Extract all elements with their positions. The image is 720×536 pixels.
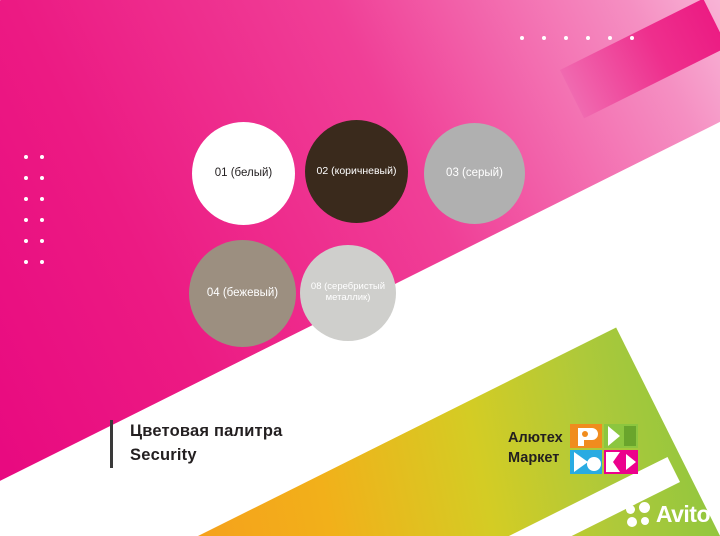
decorative-dot	[24, 155, 28, 159]
color-swatch-label: 01 (белый)	[209, 167, 279, 180]
brand-logo-mark	[570, 424, 638, 474]
decorative-dot	[608, 36, 612, 40]
decorative-dot	[520, 36, 524, 40]
avito-wordmark: Avito	[656, 501, 710, 528]
decorative-dot	[40, 176, 44, 180]
color-swatch-label: 08 (серебристый металлик)	[300, 282, 396, 304]
caption-line-1: Цветовая палитра	[130, 420, 283, 444]
decorative-dot	[40, 197, 44, 201]
color-swatch-label: 02 (коричневый)	[311, 165, 403, 177]
decorative-dot	[24, 197, 28, 201]
color-swatch-gray: 03 (серый)	[424, 123, 525, 224]
brand-logo-line-1: Алютех	[508, 429, 563, 449]
color-swatch-brown: 02 (коричневый)	[305, 120, 408, 223]
avito-watermark: Avito	[626, 501, 710, 528]
decorative-dot	[40, 155, 44, 159]
color-swatch-white: 01 (белый)	[192, 122, 295, 225]
decorative-dot	[24, 218, 28, 222]
color-swatch-silver: 08 (серебристый металлик)	[300, 245, 396, 341]
avito-logo-icon	[626, 502, 652, 528]
decorative-dot	[40, 239, 44, 243]
slide-canvas: 01 (белый)02 (коричневый)03 (серый)04 (б…	[0, 0, 720, 536]
caption-line-2: Security	[130, 444, 283, 468]
color-swatch-beige: 04 (бежевый)	[189, 240, 296, 347]
decorative-dot	[542, 36, 546, 40]
decorative-dot	[630, 36, 634, 40]
decorative-dot	[24, 260, 28, 264]
decorative-dot	[40, 260, 44, 264]
brand-logo-line-2: Маркет	[508, 449, 563, 469]
logo-squares-icon	[570, 424, 638, 474]
decorative-dot	[24, 239, 28, 243]
color-swatch-label: 04 (бежевый)	[201, 287, 284, 300]
decorative-dot	[586, 36, 590, 40]
color-swatch-label: 03 (серый)	[440, 167, 509, 180]
brand-logo: Алютех Маркет	[508, 424, 638, 474]
decorative-dot	[564, 36, 568, 40]
decorative-dot	[24, 176, 28, 180]
brand-logo-text: Алютех Маркет	[508, 429, 563, 468]
caption-block: Цветовая палитра Security	[110, 420, 283, 468]
decorative-dot	[40, 218, 44, 222]
